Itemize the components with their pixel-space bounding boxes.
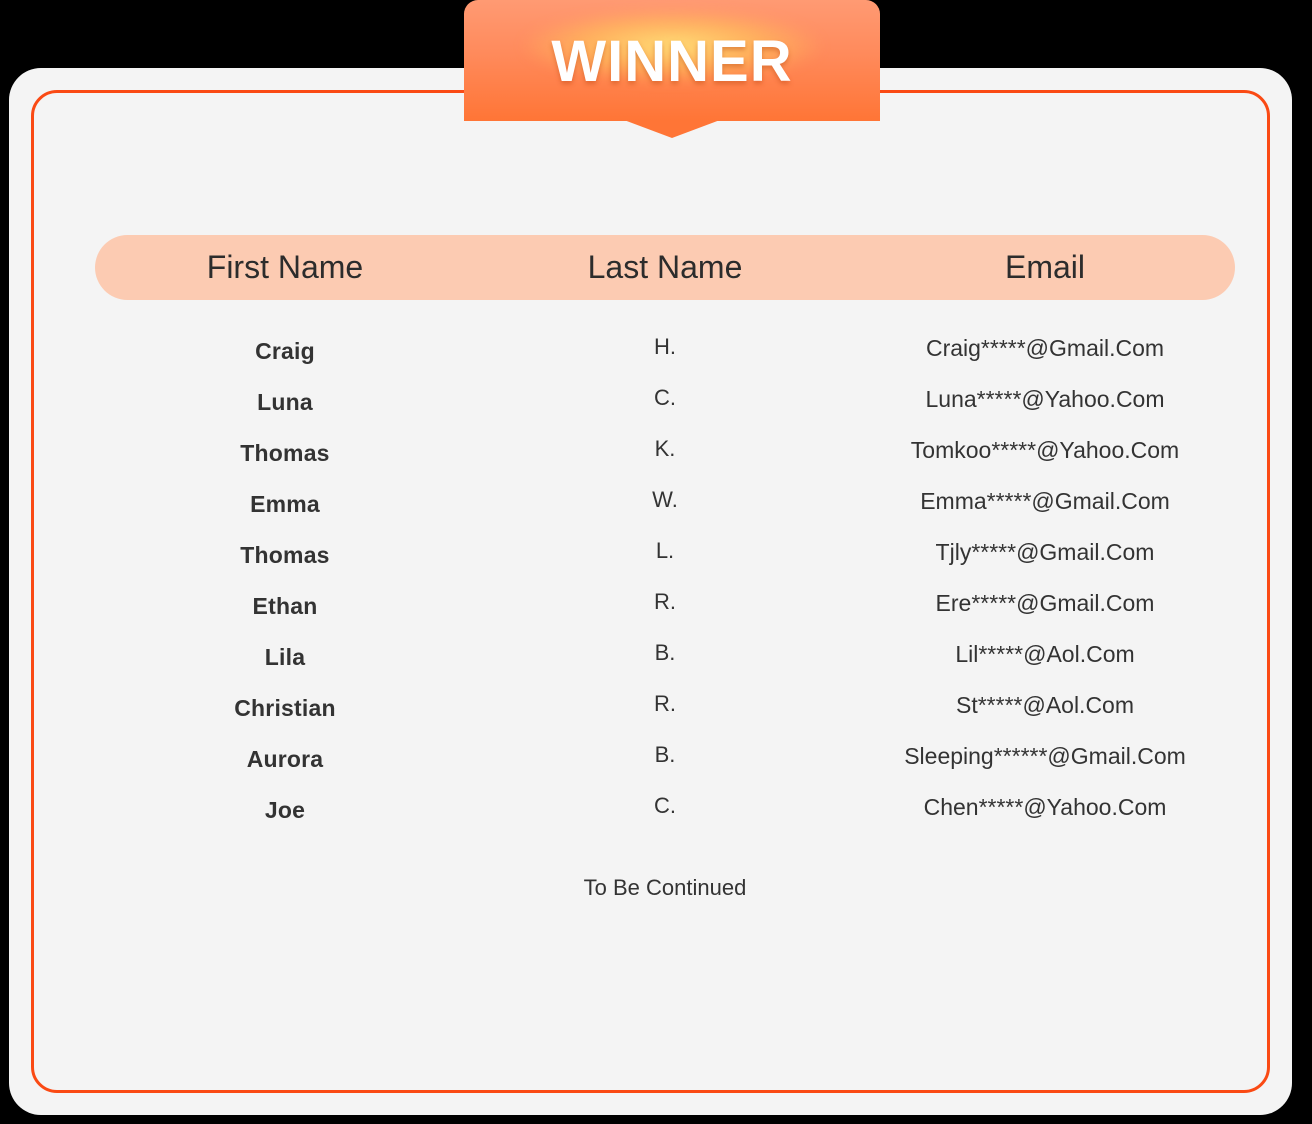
cell-first-name: Joe <box>95 797 475 824</box>
table-row: Craig H. Craig*****@Gmail.Com <box>95 326 1235 377</box>
to-be-continued-note: To Be Continued <box>95 875 1235 901</box>
cell-last-name: C. <box>475 793 855 819</box>
cell-first-name: Aurora <box>95 746 475 773</box>
column-header-first-name: First Name <box>95 249 475 286</box>
cell-email: Luna*****@Yahoo.Com <box>855 386 1235 413</box>
cell-last-name: B. <box>475 742 855 768</box>
cell-email: Emma*****@Gmail.Com <box>855 488 1235 515</box>
cell-email: Tomkoo*****@Yahoo.Com <box>855 437 1235 464</box>
cell-email: Tjly*****@Gmail.Com <box>855 539 1235 566</box>
column-header-email: Email <box>855 249 1235 286</box>
cell-last-name: C. <box>475 385 855 411</box>
cell-email: Lil*****@Aol.Com <box>855 641 1235 668</box>
cell-first-name: Thomas <box>95 542 475 569</box>
cell-first-name: Emma <box>95 491 475 518</box>
cell-last-name: B. <box>475 640 855 666</box>
table-row: Joe C. Chen*****@Yahoo.Com <box>95 785 1235 836</box>
cell-last-name: R. <box>475 691 855 717</box>
cell-first-name: Lila <box>95 644 475 671</box>
cell-first-name: Luna <box>95 389 475 416</box>
cell-last-name: K. <box>475 436 855 462</box>
cell-last-name: H. <box>475 334 855 360</box>
table-row: Emma W. Emma*****@Gmail.Com <box>95 479 1235 530</box>
table-header-row: First Name Last Name Email <box>95 235 1235 300</box>
cell-email: Chen*****@Yahoo.Com <box>855 794 1235 821</box>
winner-banner: WINNER <box>464 0 880 138</box>
winner-card: Winner List: Solar Generator 300 Plus ($… <box>9 68 1292 1115</box>
cell-email: Ere*****@Gmail.Com <box>855 590 1235 617</box>
cell-first-name: Craig <box>95 338 475 365</box>
winner-banner-body: WINNER <box>464 0 880 121</box>
cell-email: St*****@Aol.Com <box>855 692 1235 719</box>
cell-last-name: L. <box>475 538 855 564</box>
cell-email: Sleeping******@Gmail.Com <box>855 743 1235 770</box>
cell-last-name: W. <box>475 487 855 513</box>
table-row: Aurora B. Sleeping******@Gmail.Com <box>95 734 1235 785</box>
column-header-last-name: Last Name <box>475 249 855 286</box>
cell-first-name: Ethan <box>95 593 475 620</box>
cell-first-name: Christian <box>95 695 475 722</box>
table-row: Thomas K. Tomkoo*****@Yahoo.Com <box>95 428 1235 479</box>
cell-last-name: R. <box>475 589 855 615</box>
table-row: Ethan R. Ere*****@Gmail.Com <box>95 581 1235 632</box>
cell-first-name: Thomas <box>95 440 475 467</box>
winner-banner-label: WINNER <box>464 28 880 95</box>
banner-pointer-tab <box>624 120 720 138</box>
winner-table-body: Craig H. Craig*****@Gmail.Com Luna C. Lu… <box>95 326 1235 836</box>
cell-email: Craig*****@Gmail.Com <box>855 335 1235 362</box>
table-row: Luna C. Luna*****@Yahoo.Com <box>95 377 1235 428</box>
table-row: Christian R. St*****@Aol.Com <box>95 683 1235 734</box>
table-row: Thomas L. Tjly*****@Gmail.Com <box>95 530 1235 581</box>
table-row: Lila B. Lil*****@Aol.Com <box>95 632 1235 683</box>
